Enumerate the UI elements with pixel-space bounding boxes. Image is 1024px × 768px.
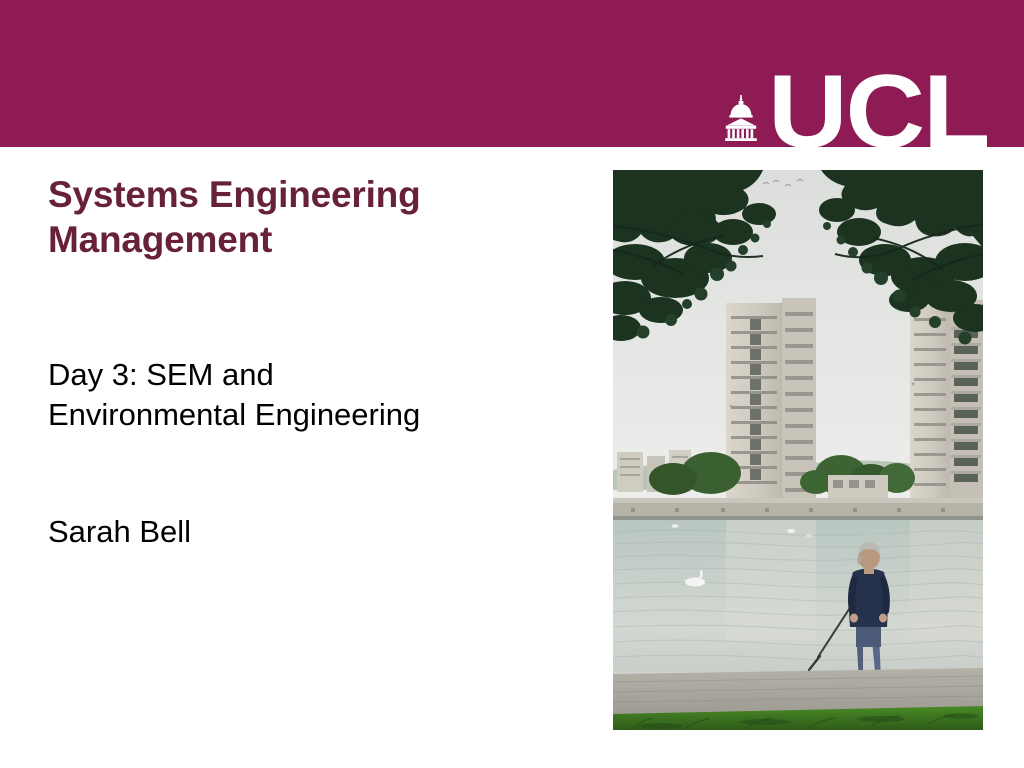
ucl-portico-icon: [724, 95, 758, 141]
slide-author: Sarah Bell: [48, 512, 191, 552]
subtitle-line-2: Environmental Engineering: [48, 397, 420, 432]
presentation-slide: UCL Systems Engineering Management Day 3…: [0, 0, 1024, 768]
slide-text-column: Systems Engineering Management Day 3: SE…: [48, 172, 588, 262]
brand-banner: UCL: [0, 0, 1024, 147]
ucl-wordmark: UCL: [768, 70, 988, 147]
page-title: Systems Engineering Management: [48, 172, 588, 262]
lakeside-photograph: [613, 170, 983, 730]
title-line-2: Management: [48, 219, 272, 260]
title-line-1: Systems Engineering: [48, 174, 421, 215]
ucl-logo: UCL: [724, 70, 976, 147]
slide-subtitle: Day 3: SEM and Environmental Engineering: [48, 355, 588, 436]
subtitle-line-1: Day 3: SEM and: [48, 357, 274, 392]
